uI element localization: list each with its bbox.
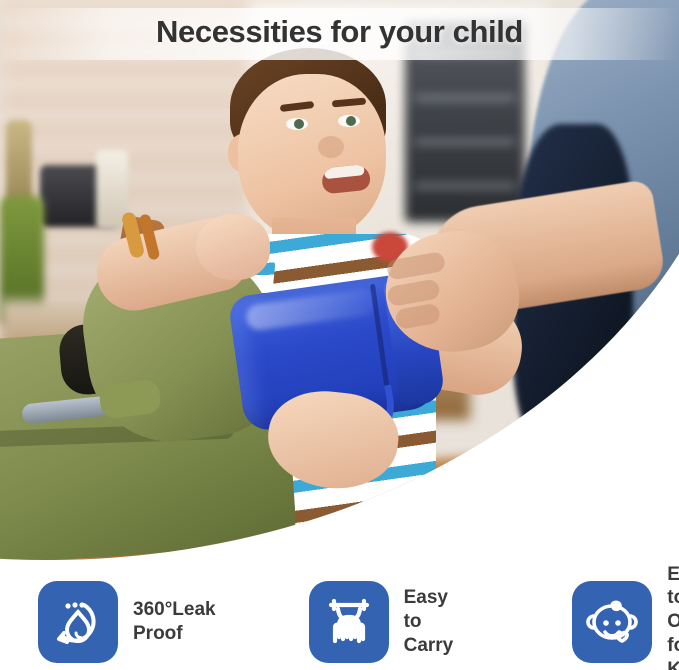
- hand-carry-icon: [322, 595, 376, 649]
- feature-label: Easy to Open for Kids: [667, 563, 679, 670]
- feature-label: 360°Leak Proof: [133, 598, 216, 646]
- page-title: Necessities for your child: [0, 14, 679, 50]
- baby-face-icon: [584, 594, 640, 650]
- product-feature-banner: Necessities for your child: [0, 0, 679, 670]
- feature-icon-tile: [309, 581, 389, 663]
- kitchen-scene: [0, 0, 679, 560]
- jar-highlight: [245, 288, 377, 332]
- hero-photo: [0, 0, 679, 560]
- boy-nose: [318, 136, 344, 158]
- feature-label: Easy to Carry: [404, 586, 454, 657]
- feature-list: 360°Leak Proof: [0, 574, 679, 670]
- feature-icon-tile: [38, 581, 118, 663]
- feature-item-easy-open: Easy to Open for Kids: [572, 563, 679, 670]
- feature-icon-tile: [572, 581, 652, 663]
- boy-eye-left: [286, 118, 308, 130]
- leak-proof-droplet-icon: [51, 595, 105, 649]
- boy-hand-left: [196, 214, 270, 280]
- boy-eye-right: [338, 115, 360, 127]
- kitchen-window: [405, 22, 525, 222]
- feature-item-leak-proof: 360°Leak Proof: [38, 581, 216, 663]
- feature-item-easy-carry: Easy to Carry: [309, 581, 454, 663]
